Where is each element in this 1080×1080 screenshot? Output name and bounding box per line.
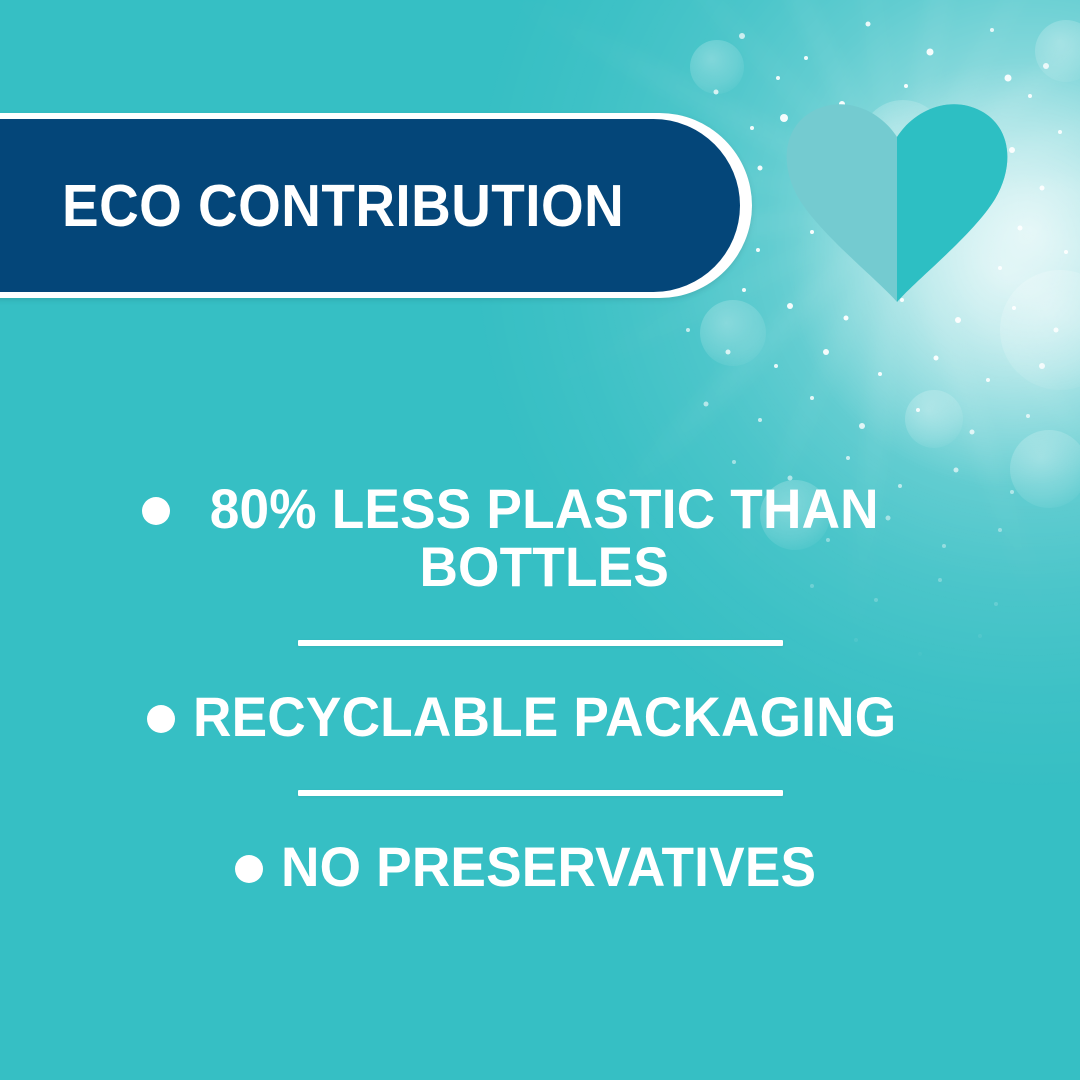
benefit-text-1: 80% LESS PLASTIC THAN BOTTLES [188, 480, 901, 596]
list-item: NO PRESERVATIVES [0, 838, 1080, 896]
list-item: RECYCLABLE PACKAGING [0, 688, 1080, 746]
heart-right-lobe [897, 104, 1007, 302]
benefits-list: 80% LESS PLASTIC THAN BOTTLES RECYCLABLE… [0, 480, 1080, 896]
benefit-text-3: NO PRESERVATIVES [281, 838, 816, 896]
eco-contribution-graphic: ECO CONTRIBUTION 80% LESS PLASTIC THAN B… [0, 0, 1080, 1080]
benefit-text-2: RECYCLABLE PACKAGING [193, 688, 896, 746]
eco-contribution-banner: ECO CONTRIBUTION [0, 113, 752, 298]
bullet-dot-icon [147, 705, 175, 733]
heart-icon [781, 103, 1013, 303]
bullet-dot-icon [142, 497, 170, 525]
list-item: 80% LESS PLASTIC THAN BOTTLES [0, 480, 1080, 596]
bullet-dot-icon [235, 855, 263, 883]
banner-fill: ECO CONTRIBUTION [0, 119, 740, 292]
page-title: ECO CONTRIBUTION [62, 172, 624, 240]
